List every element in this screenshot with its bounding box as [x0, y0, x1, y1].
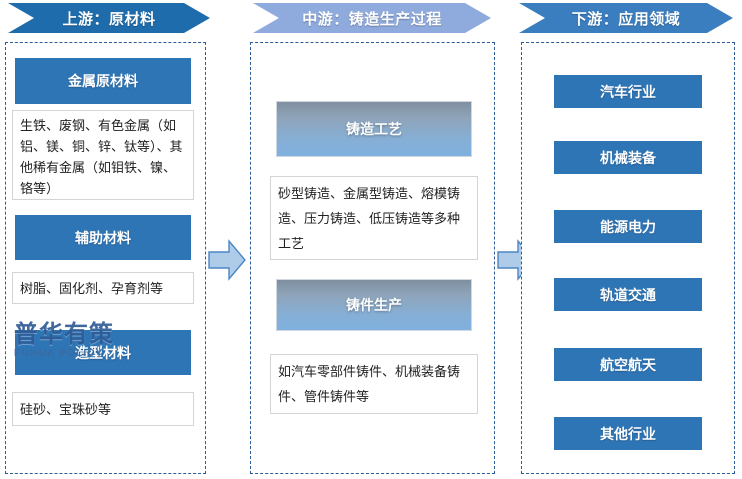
midstream-group-title-casting-process: 铸造工艺	[276, 101, 472, 157]
downstream-item-energy-power: 能源电力	[554, 210, 702, 243]
upstream-group-body-auxiliary-material: 树脂、固化剂、孕育剂等	[12, 272, 194, 304]
upstream-group-title-metal-raw-material: 金属原材料	[15, 58, 191, 104]
upstream-group-body-metal-raw-material: 生铁、废钢、有色金属（如铝、镁、铜、锌、钛等）、其他稀有金属（如钼铁、镍、铬等）	[12, 110, 194, 200]
downstream-item-machinery-equipment: 机械装备	[554, 141, 702, 174]
midstream-group-title-casting-production: 铸件生产	[276, 279, 472, 331]
downstream-banner: 下游：应用领域	[519, 3, 733, 33]
upstream-group-title-auxiliary-material: 辅助材料	[15, 215, 191, 260]
upstream-group-body-molding-material: 硅砂、宝珠砂等	[12, 392, 194, 426]
industry-chain-diagram: 上游：原材料 中游：铸造生产过程 下游：应用领域 金属原材料 生铁、废钢、有色金…	[0, 0, 742, 479]
upstream-banner: 上游：原材料	[8, 3, 210, 33]
downstream-item-automotive: 汽车行业	[554, 75, 702, 108]
arrow-upstream-to-midstream-icon	[208, 239, 246, 281]
upstream-group-title-molding-material: 造型材料	[15, 330, 191, 375]
downstream-item-other-industries: 其他行业	[554, 417, 702, 450]
midstream-group-body-casting-process: 砂型铸造、金属型铸造、熔模铸造、压力铸造、低压铸造等多种工艺	[270, 176, 478, 260]
midstream-group-body-casting-production: 如汽车零部件铸件、机械装备铸件、管件铸件等	[270, 354, 478, 414]
midstream-banner: 中游：铸造生产过程	[253, 3, 491, 33]
downstream-item-aerospace: 航空航天	[554, 348, 702, 381]
downstream-item-rail-transit: 轨道交通	[554, 278, 702, 311]
